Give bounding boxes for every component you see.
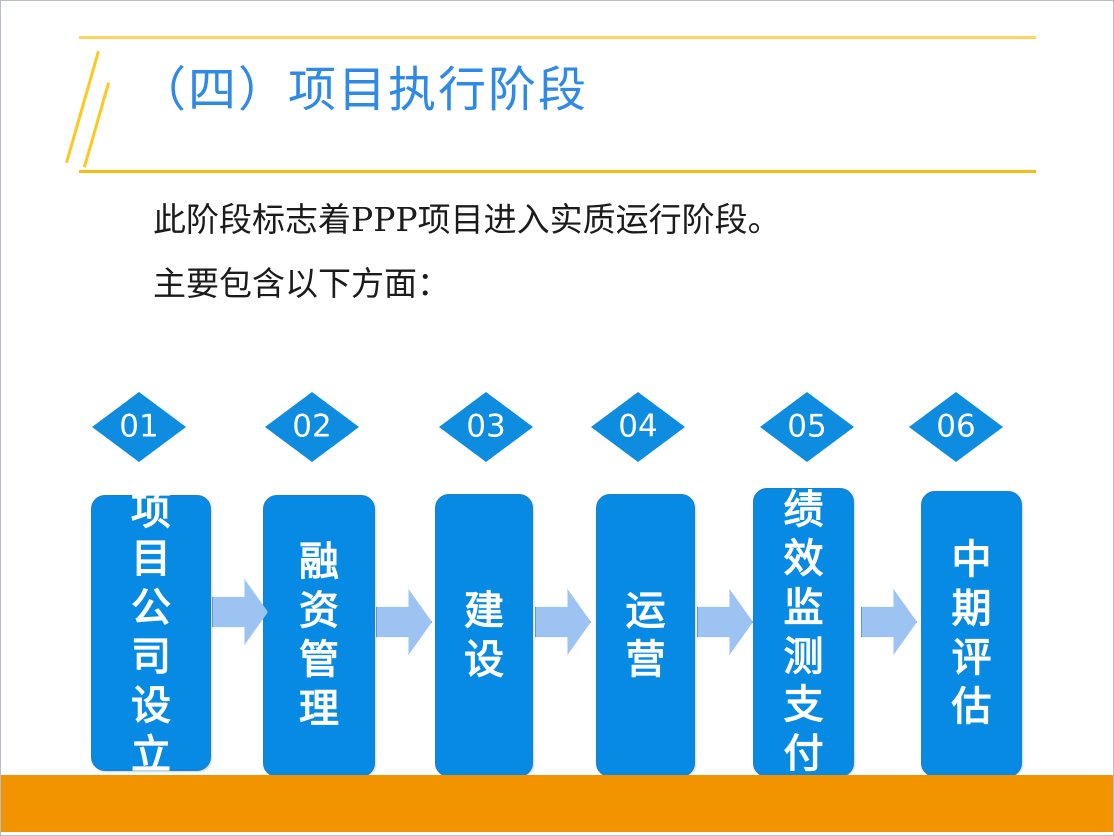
process-box-04-char-1: 运 [626,587,666,636]
process-box-06-char-1: 中 [952,536,992,585]
step-number-03: 03 [439,412,533,443]
step-badge-01: 01 [92,392,186,462]
arrow-right-icon-2 [376,589,432,655]
step-number-02: 02 [265,412,359,443]
slide-canvas: （四）项目执行阶段 此阶段标志着PPP项目进入实质运行阶段。 主要包含以下方面：… [0,0,1114,836]
process-box-02-char-4: 理 [299,685,339,734]
process-box-05-char-1: 绩 [784,486,824,535]
process-box-03-char-2: 设 [464,636,504,685]
process-box-05-char-6: 付 [784,730,824,779]
arrow-right-icon-5 [861,589,917,655]
body-line-2: 主要包含以下方面： [153,257,450,305]
process-box-03-char-1: 建 [464,587,504,636]
process-box-01-char-2: 目 [131,535,171,584]
process-box-01-char-3: 公 [131,584,171,633]
title-rule-top [79,36,1036,39]
process-box-06-char-4: 估 [952,683,992,732]
process-box-02-char-2: 资 [299,587,339,636]
title-slash-icon-1 [65,51,100,163]
step-badge-03: 03 [439,392,533,462]
step-number-06: 06 [909,412,1003,443]
page-title: （四）项目执行阶段 [138,63,588,118]
arrow-right-icon-1 [212,579,268,645]
arrow-right-icon-4 [697,589,753,655]
process-box-05-char-3: 监 [784,584,824,633]
process-box-05-char-5: 支 [784,681,824,730]
step-badge-02: 02 [265,392,359,462]
process-box-05-char-2: 效 [784,535,824,584]
process-box-05[interactable]: 绩 效 监 测 支 付 [753,488,854,777]
step-badge-04: 04 [591,392,685,462]
process-box-05-char-4: 测 [784,633,824,682]
step-badge-05: 05 [760,392,854,462]
footer-band [1,775,1114,832]
process-box-01-char-1: 项 [131,487,171,536]
process-box-01-char-5: 设 [131,682,171,731]
body-line-1: 此阶段标志着PPP项目进入实质运行阶段。 [153,193,781,241]
process-box-04[interactable]: 运 营 [596,494,695,777]
process-box-02-char-1: 融 [299,538,339,587]
process-box-01-char-6: 立 [131,731,171,780]
process-box-03[interactable]: 建 设 [435,494,533,777]
process-box-01-char-4: 司 [131,633,171,682]
process-box-04-char-2: 营 [626,636,666,685]
process-box-06-char-2: 期 [952,585,992,634]
step-number-04: 04 [591,412,685,443]
process-box-02[interactable]: 融 资 管 理 [263,495,375,777]
title-rule-bottom [79,170,1036,173]
process-box-06[interactable]: 中 期 评 估 [921,491,1022,777]
step-number-01: 01 [92,412,186,443]
step-badge-06: 06 [909,392,1003,462]
process-box-06-char-3: 评 [952,634,992,683]
arrow-right-icon-3 [535,589,591,655]
process-box-01[interactable]: 项 目 公 司 设 立 [91,495,211,771]
step-number-05: 05 [760,412,854,443]
process-box-02-char-3: 管 [299,636,339,685]
